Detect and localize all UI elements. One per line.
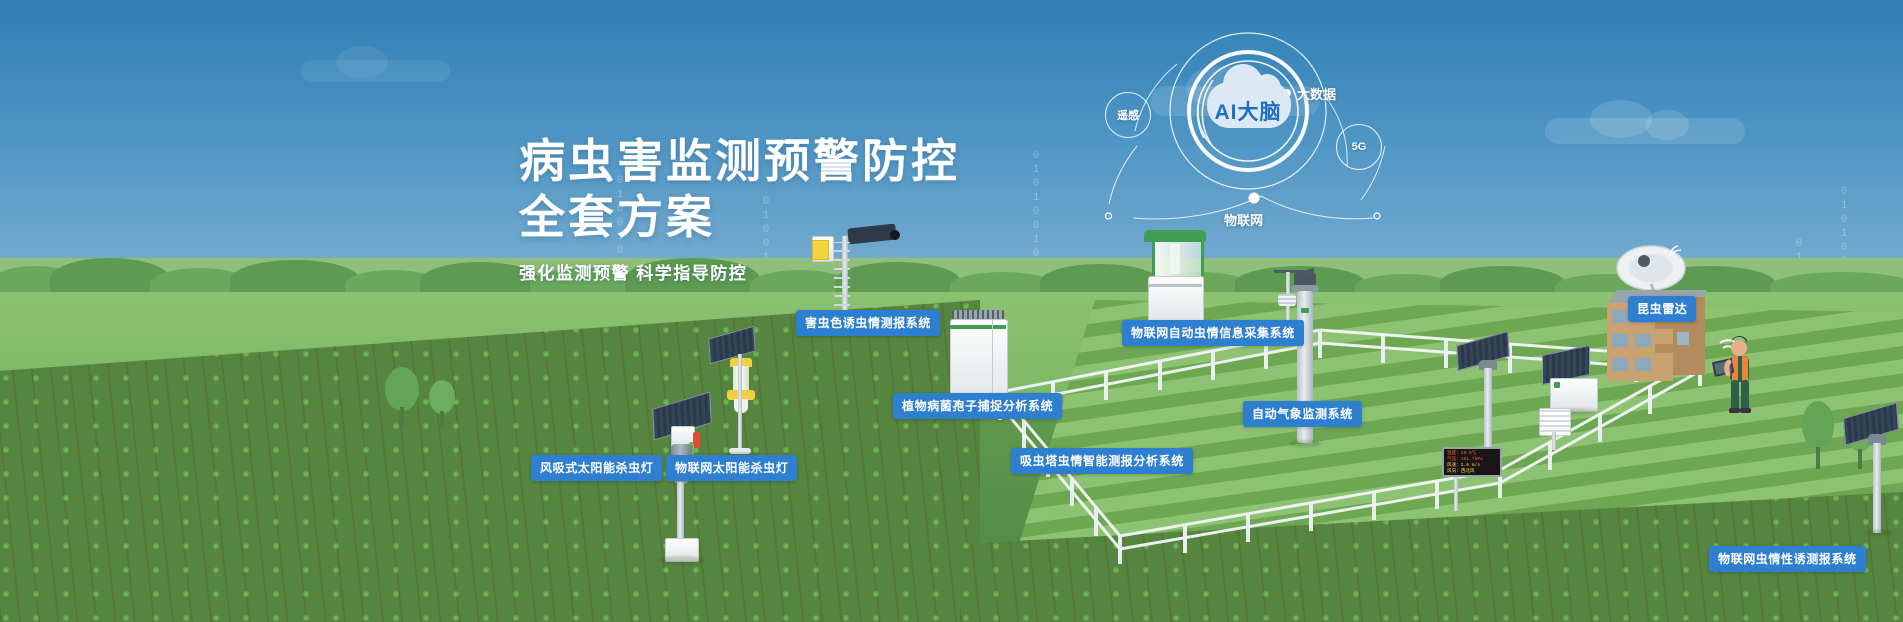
chip-insect-radar[interactable]: 昆虫雷达	[1628, 296, 1696, 322]
led-display-board[interactable]: 温度：28.6℃ 气压：101.7kPa 风速：2.6 m/s 风向：西北风	[1442, 447, 1512, 513]
building-window	[1677, 332, 1689, 345]
device-iot-solar-insect-lamp[interactable]	[705, 330, 775, 460]
node-5g-label: 5G	[1352, 141, 1367, 153]
chip-suction-tower-intelligent-forecast-analysis-system[interactable]: 吸虫塔虫情智能测报分析系统	[1011, 448, 1193, 474]
led-board-pole	[1454, 477, 1458, 511]
building-window	[1612, 310, 1628, 323]
device-weather-sensor-shelter[interactable]	[1535, 408, 1581, 454]
led-line: 风向：西北风	[1447, 469, 1497, 475]
iot-node-dot	[1249, 193, 1260, 204]
collector-panel-line	[1148, 284, 1202, 287]
node-5g: 5G	[1336, 124, 1382, 170]
shelter-pole	[1552, 432, 1556, 450]
cabinet-green-dot	[1554, 382, 1560, 388]
chip-iot-automatic-pest-info-collection-system[interactable]: 物联网自动虫情信息采集系统	[1122, 320, 1304, 346]
lamp-pole	[677, 482, 684, 544]
ai-brain-cluster: AI大脑 遥感 大数据 5G 物联网	[1085, 28, 1515, 228]
ai-brain-label: AI大脑	[1215, 96, 1282, 126]
device-iot-pest-pheromone-lure-forecast-system[interactable]	[1455, 338, 1525, 456]
headline-line-1: 病虫害监测预警防控	[519, 133, 960, 189]
cloud-decoration	[1645, 110, 1689, 140]
tree-decoration	[380, 355, 500, 435]
building-window	[1635, 334, 1651, 347]
device-pole	[1873, 443, 1881, 533]
chip-pest-color-lure-forecast-system[interactable]: 害虫色诱虫情测报系统	[796, 310, 940, 336]
device-pole	[1484, 368, 1492, 450]
radiation-shield	[1278, 294, 1296, 306]
chip-plant-pathogen-spore-capture-analysis-system[interactable]: 植物病菌孢子捕捉分析系统	[893, 393, 1062, 419]
chip-iot-solar-insect-lamp[interactable]: 物联网太阳能杀虫灯	[666, 455, 797, 481]
cloud-decoration	[336, 46, 388, 78]
device-iot-pheromone-trap-right[interactable]	[1842, 410, 1903, 540]
node-remote-sensing: 遥感	[1105, 92, 1151, 138]
camera-lens	[890, 230, 900, 240]
building-window	[1612, 334, 1628, 347]
device-shadow	[1289, 440, 1321, 447]
cloud-decoration	[1590, 100, 1652, 138]
building-window	[1635, 358, 1651, 371]
chip-iot-pest-pheromone-lure-forecast-system[interactable]: 物联网虫情性诱测报系统	[1709, 546, 1866, 572]
building-balcony	[1655, 344, 1673, 353]
lamp-indicator-red	[693, 432, 700, 448]
pest-monitoring-banner: 010010011010 01001000101 010100101010010…	[0, 0, 1903, 622]
field-worker-illustration	[1705, 330, 1765, 420]
device-shadow	[1864, 530, 1892, 536]
worker-figure	[1705, 330, 1765, 420]
node-big-data-label: 大数据	[1297, 84, 1336, 103]
cabinet-green-stripe	[950, 325, 1006, 329]
led-screen: 温度：28.6℃ 气压：101.7kPa 风速：2.6 m/s 风向：西北风	[1442, 447, 1502, 477]
collector-canopy	[1144, 230, 1206, 242]
device-shadow	[659, 556, 705, 564]
ai-brain-core: AI大脑	[1193, 56, 1303, 166]
chip-automatic-weather-monitoring-system[interactable]: 自动气象监测系统	[1243, 401, 1362, 427]
node-remote-sensing-label: 遥感	[1117, 107, 1139, 123]
collector-tube	[1170, 244, 1180, 274]
node-iot-label: 物联网	[1224, 210, 1263, 229]
yellow-sticky-board	[812, 240, 829, 260]
chip-wind-suction-solar-insect-lamp[interactable]: 风吸式太阳能杀虫灯	[531, 455, 662, 481]
lamp-pole	[738, 354, 742, 452]
